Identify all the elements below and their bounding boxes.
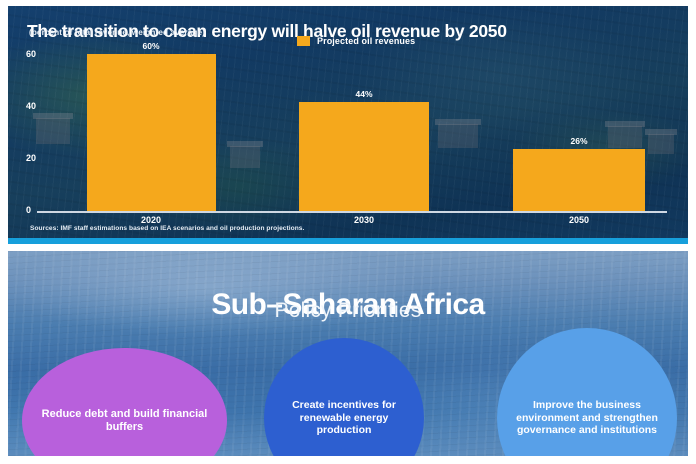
bar-2050 (513, 149, 645, 211)
panel-gap (0, 244, 696, 251)
policy-bubble-debt-label: Reduce debt and build financial buffers (32, 408, 217, 434)
x-axis-line (37, 211, 667, 213)
bar-label-2020: 60% (142, 41, 159, 51)
chart-plot-area: 60 40 20 0 60% 44% 26% 2020 2030 2050 (8, 6, 688, 238)
x-tick-2020: 2020 (141, 215, 161, 225)
bar-label-2050: 26% (570, 136, 587, 146)
x-tick-2050: 2050 (569, 215, 589, 225)
x-tick-2030: 2030 (354, 215, 374, 225)
bar-2030 (299, 102, 429, 211)
policy-bubble-renewables-label: Create incentives for renewable energy p… (274, 399, 414, 436)
chart-source-note: Sources: IMF staff estimations based on … (30, 225, 304, 232)
infographic-poster: The transition to clean energy will halv… (0, 0, 696, 464)
bar-2020 (87, 54, 216, 211)
y-tick-0: 0 (26, 205, 31, 215)
policy-bubble-debt: Reduce debt and build financial buffers (22, 348, 227, 456)
region-subtitle: Policy Priorities (8, 299, 688, 323)
y-tick-20: 20 (26, 153, 36, 163)
policy-bubble-governance: Improve the business environment and str… (497, 328, 677, 456)
y-tick-60: 60 (26, 49, 36, 59)
bar-label-2030: 44% (355, 89, 372, 99)
policy-bubble-governance-label: Improve the business environment and str… (507, 399, 667, 436)
policy-priorities-panel: Sub–Saharan Africa Policy Priorities Red… (8, 251, 688, 456)
policy-bubble-renewables: Create incentives for renewable energy p… (264, 338, 424, 456)
oil-revenue-chart-panel: The transition to clean energy will halv… (8, 6, 688, 238)
y-tick-40: 40 (26, 101, 36, 111)
